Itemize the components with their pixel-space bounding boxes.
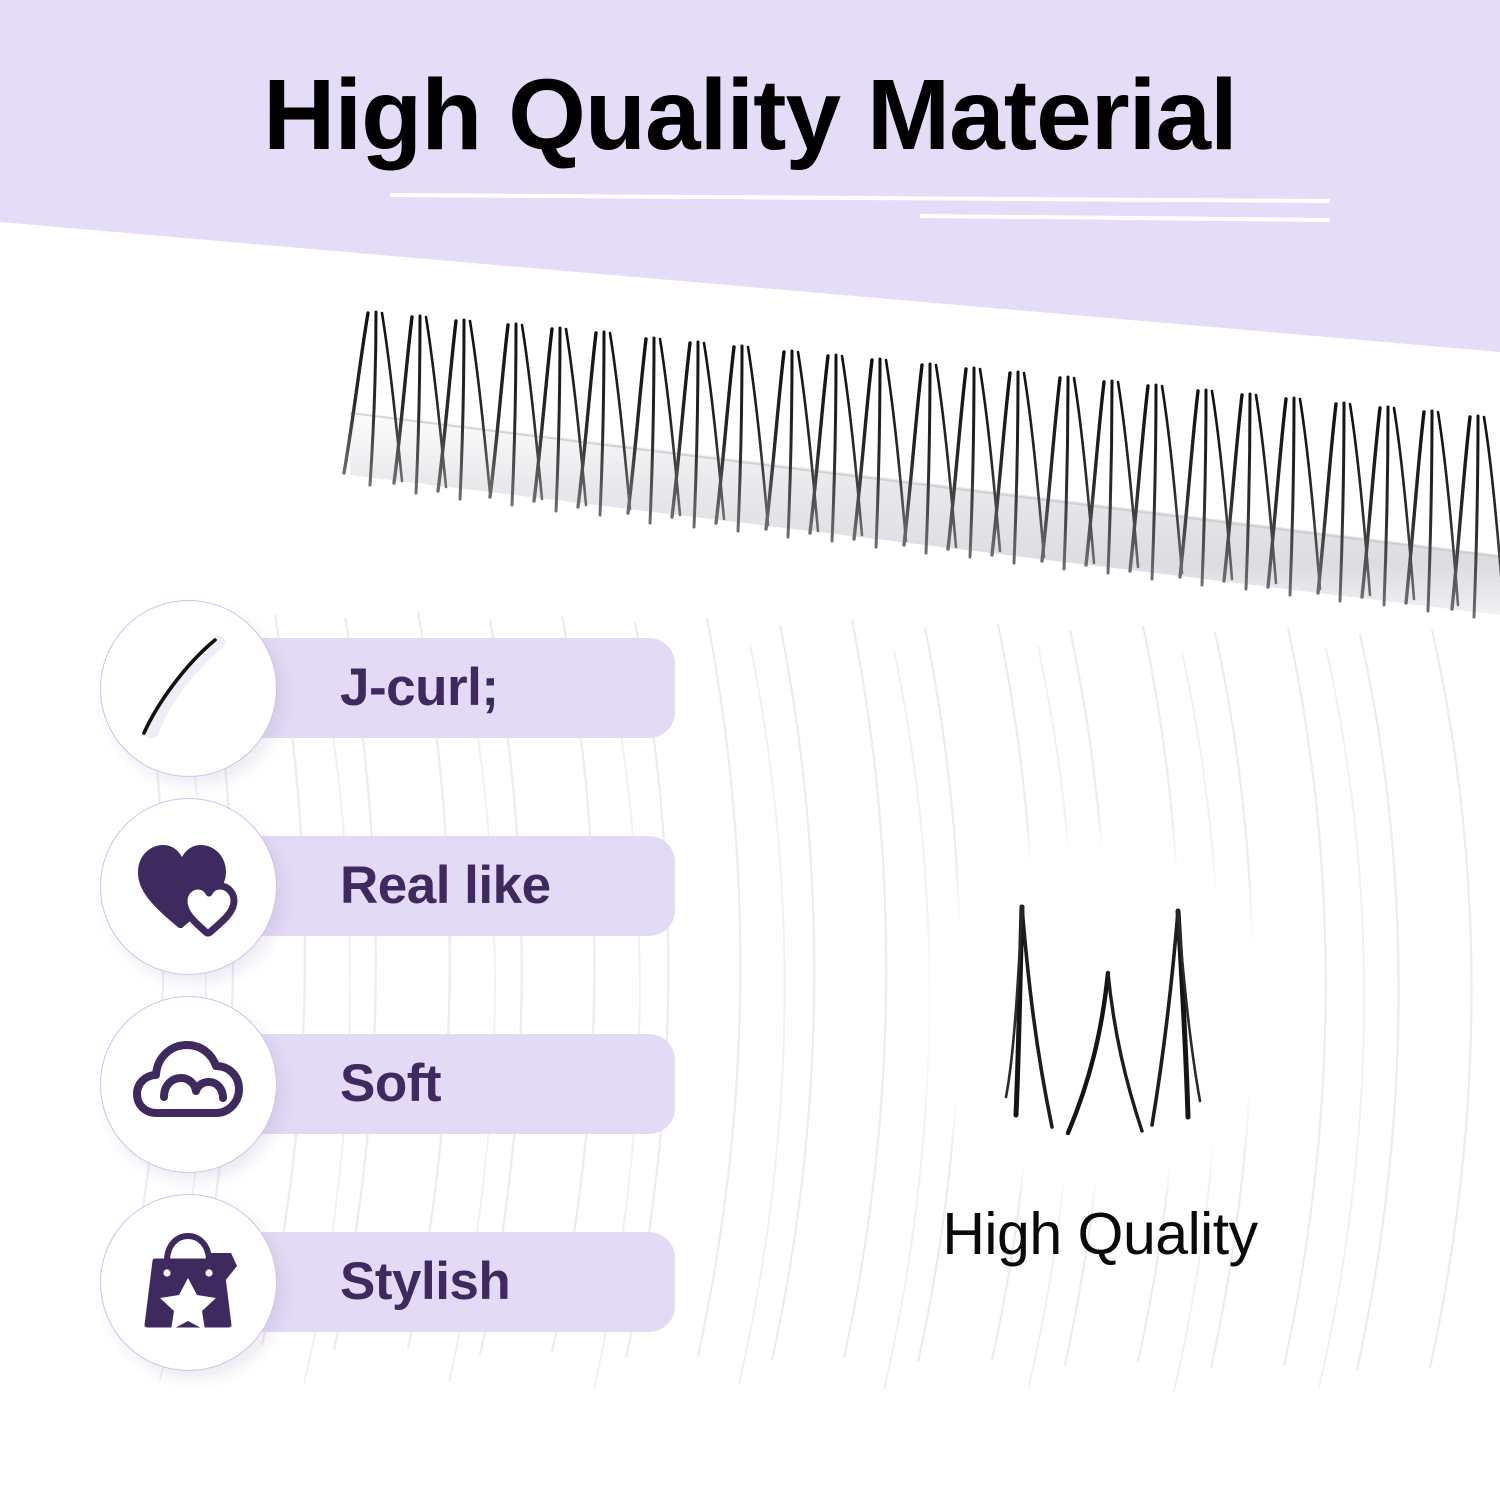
cloud-icon	[100, 996, 277, 1173]
product-infographic: High Quality Material	[0, 0, 1500, 1500]
feature-item-real-like[interactable]: Real like	[100, 798, 720, 951]
feature-label: Real like	[340, 836, 551, 936]
feature-label: Soft	[340, 1034, 441, 1134]
lash-curl-icon	[100, 600, 277, 777]
feature-list: J-curl; Real like Soft	[100, 600, 720, 1392]
feature-item-stylish[interactable]: Stylish	[100, 1194, 720, 1347]
magnified-lash-fibers-icon	[930, 845, 1270, 1185]
shopping-bag-star-icon	[100, 1194, 277, 1371]
feature-label: J-curl;	[340, 638, 498, 738]
page-title: High Quality Material	[0, 63, 1500, 168]
feature-label: Stylish	[340, 1232, 510, 1332]
feature-item-j-curl[interactable]: J-curl;	[100, 600, 720, 753]
title-divider-lines	[0, 180, 1500, 250]
callout-caption: High Quality	[870, 1200, 1330, 1268]
feature-item-soft[interactable]: Soft	[100, 996, 720, 1149]
double-heart-icon	[100, 798, 277, 975]
high-quality-callout: High Quality	[930, 845, 1270, 1185]
